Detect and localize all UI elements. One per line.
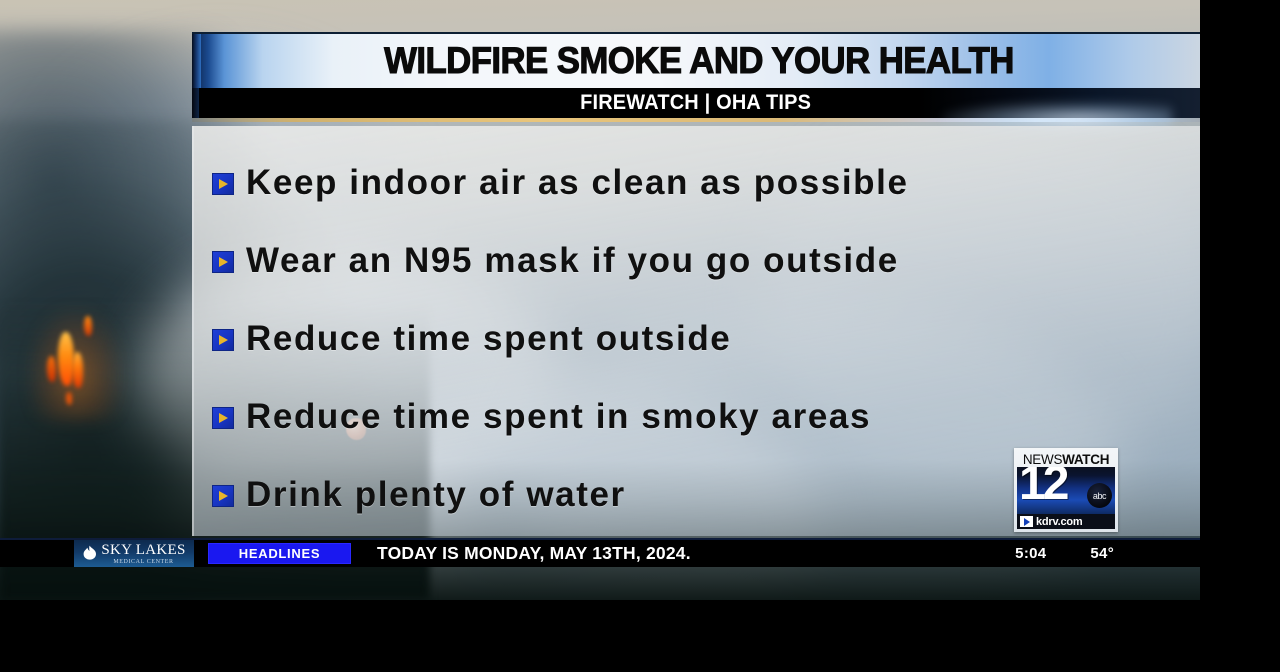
flame-icon: [47, 356, 56, 382]
banner-subtitle-bar: FIREWATCH | OHA TIPS: [192, 88, 1200, 118]
leaf-flame-icon: [82, 545, 97, 562]
abc-network-badge: abc: [1087, 483, 1112, 508]
tip-text: Drink plenty of water: [246, 475, 626, 515]
banner-accent-rule: [192, 118, 1200, 122]
wordmark-watch: WATCH: [1062, 452, 1109, 467]
flame-icon: [84, 316, 92, 336]
channel-number-block: 12 abc: [1017, 467, 1115, 514]
headlines-badge: HEADLINES: [208, 543, 351, 564]
sponsor-tagline: MEDICAL CENTER: [113, 559, 173, 565]
play-triangle-icon: [1020, 516, 1033, 527]
newswatch-wordmark: NEWSWATCH: [1017, 451, 1115, 467]
banner-title: WILDFIRE SMOKE AND YOUR HEALTH: [192, 40, 1200, 82]
broadcast-screenshot: WILDFIRE SMOKE AND YOUR HEALTH FIREWATCH…: [0, 0, 1280, 672]
banner-title-bar: WILDFIRE SMOKE AND YOUR HEALTH: [192, 32, 1200, 88]
video-frame: WILDFIRE SMOKE AND YOUR HEALTH FIREWATCH…: [0, 0, 1200, 600]
tip-text: Reduce time spent in smoky areas: [246, 397, 871, 437]
temperature-readout: 54°: [1090, 545, 1114, 562]
play-triangle-icon: [212, 329, 234, 351]
tip-item: Reduce time spent outside: [212, 300, 1200, 378]
flame-icon: [72, 352, 83, 388]
play-triangle-icon: [212, 251, 234, 273]
tip-item: Reduce time spent in smoky areas: [212, 378, 1200, 456]
wordmark-news: NEWS: [1023, 452, 1062, 467]
channel-number: 12: [1019, 467, 1066, 508]
tip-text: Keep indoor air as clean as possible: [246, 163, 909, 203]
banner-title-text: WILDFIRE SMOKE AND YOUR HEALTH: [384, 40, 1014, 82]
station-website: kdrv.com: [1036, 516, 1083, 528]
letterbox-bar-right: [1200, 0, 1280, 672]
ticker-headline: TODAY IS MONDAY, MAY 13TH, 2024.: [377, 543, 691, 564]
ticker-status-group: 5:04 54°: [1015, 545, 1114, 562]
tip-text: Reduce time spent outside: [246, 319, 731, 359]
sponsor-logo: SKY LAKES MEDICAL CENTER: [74, 540, 194, 567]
play-triangle-icon: [212, 173, 234, 195]
news-ticker: SKY LAKES MEDICAL CENTER HEADLINES TODAY…: [0, 538, 1200, 567]
tip-item: Wear an N95 mask if you go outside: [212, 222, 1200, 300]
tip-text: Wear an N95 mask if you go outside: [246, 241, 899, 281]
flame-icon: [66, 392, 72, 405]
clock-time: 5:04: [1015, 545, 1046, 562]
play-triangle-icon: [212, 485, 234, 507]
sponsor-name-block: SKY LAKES MEDICAL CENTER: [101, 543, 185, 565]
headline-banner: WILDFIRE SMOKE AND YOUR HEALTH FIREWATCH…: [192, 32, 1200, 120]
headlines-badge-label: HEADLINES: [239, 546, 320, 561]
station-logo-bug: NEWSWATCH 12 abc kdrv.com: [1014, 448, 1118, 532]
flame-icon: [58, 332, 74, 386]
tip-item: Keep indoor air as clean as possible: [212, 144, 1200, 222]
banner-subtitle: FIREWATCH | OHA TIPS: [580, 91, 811, 115]
station-website-bar: kdrv.com: [1017, 514, 1115, 529]
letterbox-bar-bottom: [0, 600, 1280, 672]
play-triangle-icon: [212, 407, 234, 429]
sponsor-name: SKY LAKES: [101, 543, 185, 558]
